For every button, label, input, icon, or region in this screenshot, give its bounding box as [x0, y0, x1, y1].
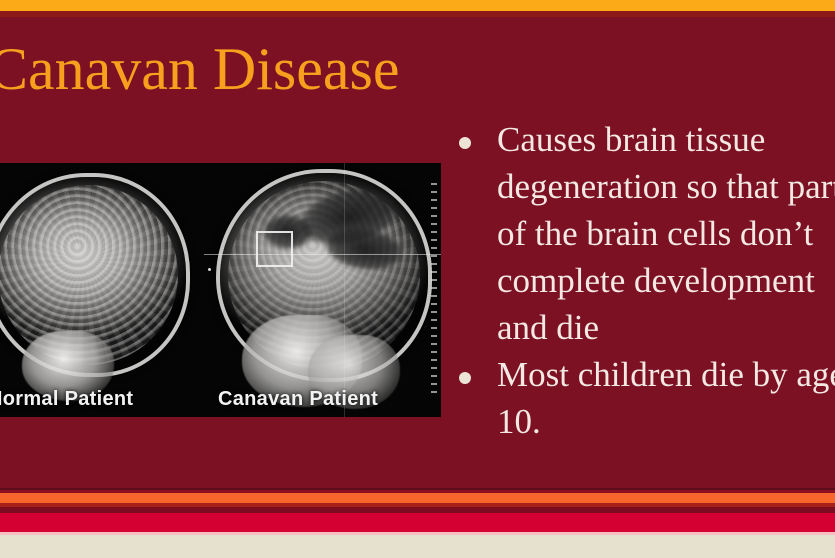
bullet-text: Most children die by age 10.	[497, 351, 835, 445]
bottom-band-crimson	[0, 513, 835, 532]
list-item: Most children die by age 10.	[452, 351, 835, 445]
slide-canvas: Canavan Disease Normal Patient Canavan P…	[0, 0, 835, 558]
crosshair-horizontal-icon	[204, 254, 441, 255]
marker-dot-icon	[208, 268, 211, 271]
region-of-interest-box	[256, 231, 293, 267]
scan-label-normal: Normal Patient	[0, 388, 133, 411]
list-item: Causes brain tissue degeneration so that…	[452, 116, 835, 351]
top-orange-band	[0, 0, 835, 11]
bullet-dot-icon	[459, 372, 471, 384]
bottom-band-orange	[0, 493, 835, 503]
bullet-text: Causes brain tissue degeneration so that…	[497, 116, 835, 351]
mri-scan-normal: Normal Patient	[0, 163, 204, 417]
scan-label-canavan: Canavan Patient	[218, 388, 378, 411]
bullet-dot-icon	[459, 137, 471, 149]
scale-ticks-icon	[431, 183, 437, 397]
mri-scan-canavan: Canavan Patient	[204, 163, 441, 417]
crosshair-vertical-icon	[344, 163, 345, 417]
bottom-band-cream	[0, 535, 835, 558]
mri-comparison-figure: Normal Patient Canavan Patient	[0, 163, 441, 417]
page-title: Canavan Disease	[0, 36, 458, 102]
top-dark-band	[0, 11, 835, 17]
bullet-list: Causes brain tissue degeneration so that…	[452, 116, 835, 445]
